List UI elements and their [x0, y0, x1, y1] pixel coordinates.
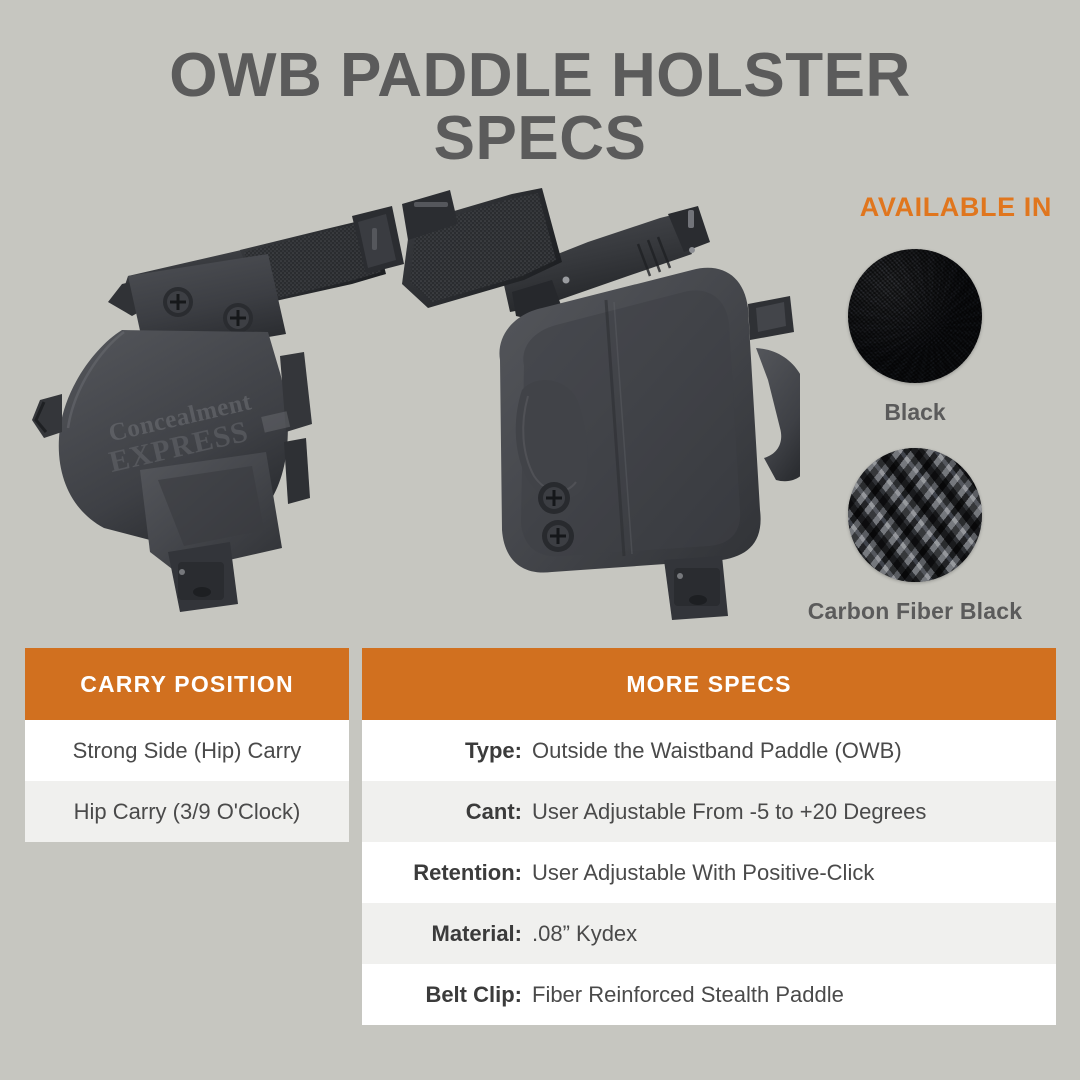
spec-value: User Adjustable From -5 to +20 Degrees — [532, 799, 1056, 825]
swatch-spacer — [760, 426, 1070, 448]
retention-screw-left-lower — [223, 303, 253, 333]
table-row: Hip Carry (3/9 O'Clock) — [25, 781, 349, 842]
spec-value: Fiber Reinforced Stealth Paddle — [532, 982, 1056, 1008]
holster-left: Concealment EXPRESS — [32, 206, 404, 612]
spec-label: Retention: — [388, 860, 532, 886]
swatch-label-carbon-fiber: Carbon Fiber Black — [760, 598, 1070, 625]
swatch-label-black: Black — [760, 399, 1070, 426]
page-title: OWB PADDLE HOLSTER SPECS — [0, 44, 1080, 170]
retention-screw-left-upper — [163, 287, 193, 317]
retention-screw-right-lower — [542, 520, 574, 552]
spec-label: Material: — [388, 921, 532, 947]
swatch-item-black[interactable]: Black — [760, 249, 1070, 426]
carbon-fiber-black-kydex-swatch[interactable] — [848, 448, 982, 582]
carry-position-header: CARRY POSITION — [25, 648, 349, 720]
holster-right — [402, 188, 800, 620]
carry-position-value: Strong Side (Hip) Carry — [63, 738, 312, 764]
table-row: Material: .08” Kydex — [362, 903, 1056, 964]
table-row: Belt Clip: Fiber Reinforced Stealth Padd… — [362, 964, 1056, 1025]
more-specs-header: MORE SPECS — [362, 648, 1056, 720]
spec-value: .08” Kydex — [532, 921, 1056, 947]
black-kydex-swatch[interactable] — [848, 249, 982, 383]
available-in-section: AVAILABLE IN Black Carbon Fiber Black — [760, 192, 1070, 625]
carry-position-value: Hip Carry (3/9 O'Clock) — [64, 799, 311, 825]
carry-position-table: CARRY POSITION Strong Side (Hip) Carry H… — [25, 648, 349, 842]
holster-illustration: Concealment EXPRESS — [0, 180, 800, 630]
available-in-heading: AVAILABLE IN — [760, 192, 1070, 223]
spec-label: Type: — [388, 738, 532, 764]
retention-screw-right-upper — [538, 482, 570, 514]
table-row: Strong Side (Hip) Carry — [25, 720, 349, 781]
table-row: Type: Outside the Waistband Paddle (OWB) — [362, 720, 1056, 781]
table-row: Cant: User Adjustable From -5 to +20 Deg… — [362, 781, 1056, 842]
spec-label: Belt Clip: — [388, 982, 532, 1008]
spec-value: User Adjustable With Positive-Click — [532, 860, 1056, 886]
more-specs-table: MORE SPECS Type: Outside the Waistband P… — [362, 648, 1056, 1025]
spec-label: Cant: — [388, 799, 532, 825]
spec-value: Outside the Waistband Paddle (OWB) — [532, 738, 1056, 764]
table-row: Retention: User Adjustable With Positive… — [362, 842, 1056, 903]
product-image-group: Concealment EXPRESS — [0, 180, 800, 630]
swatch-item-carbon-fiber[interactable]: Carbon Fiber Black — [760, 448, 1070, 625]
